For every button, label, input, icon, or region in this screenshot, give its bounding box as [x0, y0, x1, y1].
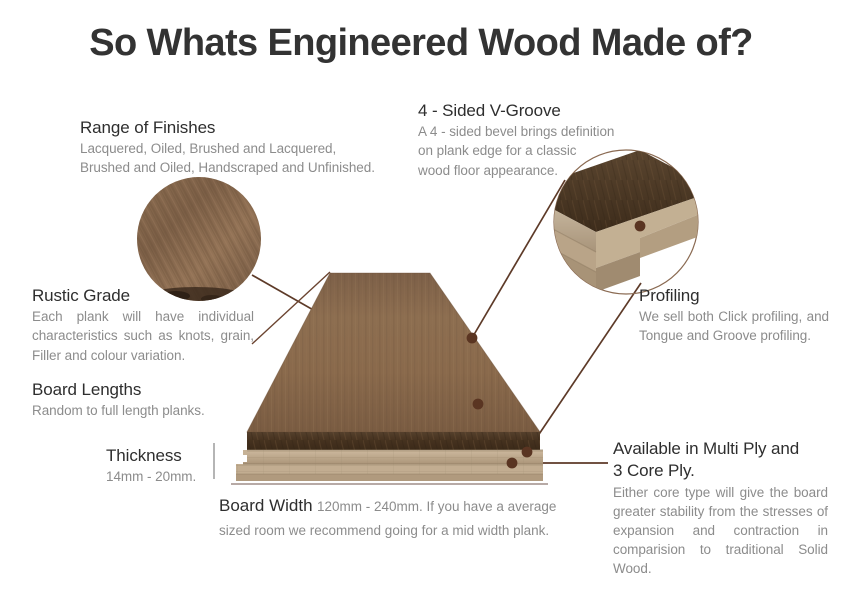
- callout-range-of-finishes: Range of Finishes Lacquered, Oiled, Brus…: [80, 117, 410, 178]
- board-width-heading: Board Width: [219, 496, 313, 515]
- multi-ply-heading-line1: Available in Multi Ply and: [613, 438, 828, 459]
- v-groove-line1: A 4 - sided bevel brings definition: [418, 122, 648, 141]
- rustic-grade-body: Each plank will have individual characte…: [32, 307, 254, 364]
- callout-rustic-grade: Rustic Grade Each plank will have indivi…: [32, 285, 254, 365]
- callout-thickness: Thickness 14mm - 20mm.: [106, 445, 246, 486]
- range-of-finishes-line1: Lacquered, Oiled, Brushed and Lacquered,: [80, 139, 410, 158]
- callout-profiling: Profiling We sell both Click profiling, …: [639, 285, 829, 346]
- v-groove-line3: wood floor appearance.: [418, 161, 648, 180]
- multi-ply-body: Either core type will give the board gre…: [613, 483, 828, 579]
- v-groove-line2: on plank edge for a classic: [418, 141, 648, 160]
- callout-multi-ply: Available in Multi Ply and 3 Core Ply. E…: [613, 438, 828, 578]
- range-of-finishes-heading: Range of Finishes: [80, 117, 410, 138]
- board-lengths-heading: Board Lengths: [32, 379, 264, 400]
- thickness-body: 14mm - 20mm.: [106, 467, 246, 486]
- rustic-grade-heading: Rustic Grade: [32, 285, 254, 306]
- range-of-finishes-line2: Brushed and Oiled, Handscraped and Unfin…: [80, 158, 410, 177]
- infographic-canvas: So Whats Engineered Wood Made of?: [0, 0, 842, 595]
- profiling-heading: Profiling: [639, 285, 829, 306]
- board-lengths-body: Random to full length planks.: [32, 401, 264, 420]
- engineered-wood-plank-illustration: [231, 273, 548, 484]
- callout-board-width: Board Width 120mm - 240mm. If you have a…: [219, 494, 589, 542]
- multi-ply-heading-line2: 3 Core Ply.: [613, 460, 828, 481]
- profiling-body: We sell both Click profiling, and Tongue…: [639, 307, 829, 345]
- v-groove-heading: 4 - Sided V-Groove: [418, 100, 648, 121]
- callout-board-lengths: Board Lengths Random to full length plan…: [32, 379, 264, 420]
- thickness-heading: Thickness: [106, 445, 246, 466]
- callout-v-groove: 4 - Sided V-Groove A 4 - sided bevel bri…: [418, 100, 648, 180]
